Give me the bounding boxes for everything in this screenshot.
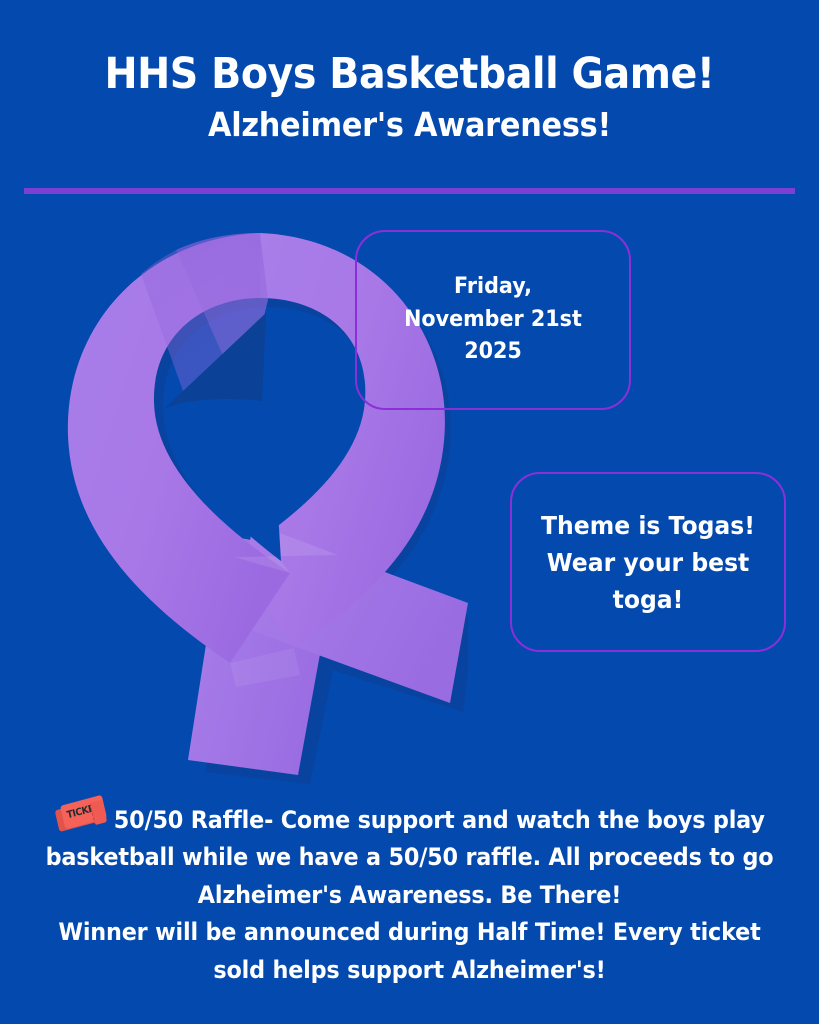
event-theme-line: Wear your best — [520, 544, 776, 581]
event-theme-line: Theme is Togas! — [520, 507, 776, 544]
header-divider — [24, 188, 795, 194]
ticket-icon: TICKET — [54, 796, 112, 834]
description-line-2: basketball while we have a 50/50 raffle.… — [42, 839, 778, 876]
poster-header: HHS Boys Basketball Game! Alzheimer's Aw… — [0, 0, 819, 143]
description-line-5: sold helps support Alzheimer's! — [42, 952, 778, 989]
event-description: TICKET 50/50 Raffle- Come support and wa… — [42, 796, 778, 989]
page-subtitle: Alzheimer's Awareness! — [33, 97, 786, 143]
event-date-lines: Friday, November 21st 2025 — [365, 271, 621, 369]
event-date-line: 2025 — [365, 336, 621, 369]
event-theme-box: Theme is Togas! Wear your best toga! — [510, 472, 786, 652]
description-text: 50/50 Raffle- Come support and watch the… — [114, 806, 765, 834]
event-date-line: Friday, — [365, 271, 621, 304]
event-date-box: Friday, November 21st 2025 — [355, 230, 631, 410]
event-theme-line: toga! — [520, 581, 776, 618]
description-line-4: Winner will be announced during Half Tim… — [42, 914, 778, 951]
description-line-3: Alzheimer's Awareness. Be There! — [42, 877, 778, 914]
event-theme-lines: Theme is Togas! Wear your best toga! — [520, 507, 776, 618]
event-date-line: November 21st — [365, 304, 621, 337]
page-title: HHS Boys Basketball Game! — [33, 0, 786, 97]
poster-canvas: HHS Boys Basketball Game! Alzheimer's Aw… — [0, 0, 819, 1024]
description-line-1: TICKET 50/50 Raffle- Come support and wa… — [42, 796, 778, 839]
